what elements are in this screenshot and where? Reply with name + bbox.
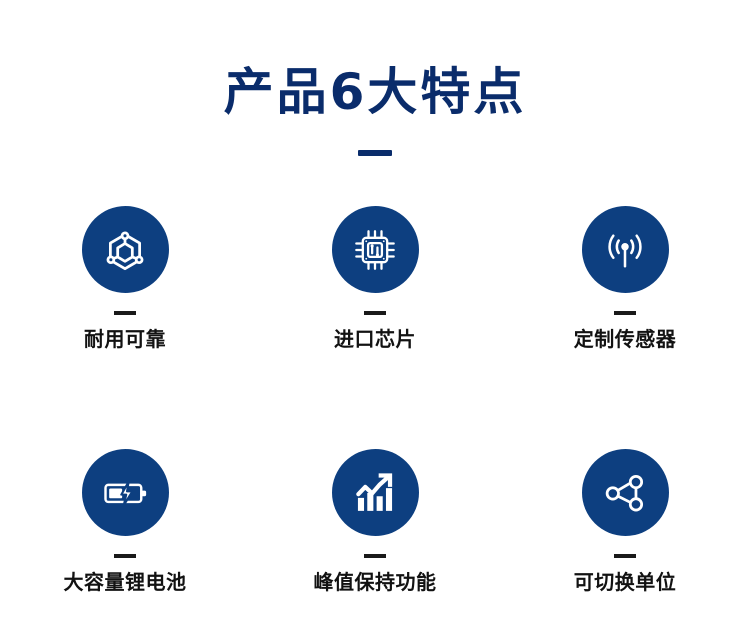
battery-charging-bolt-icon — [99, 467, 151, 519]
feature-highlight-page: 产品6大特点 — [0, 0, 750, 632]
icon-badge — [582, 449, 669, 536]
feature-dash — [114, 554, 136, 558]
feature-dash — [614, 554, 636, 558]
icon-badge — [582, 206, 669, 293]
page-title: 产品6大特点 — [0, 62, 750, 122]
feature-dash — [114, 311, 136, 315]
page-header: 产品6大特点 — [0, 62, 750, 156]
feature-label: 峰值保持功能 — [314, 569, 437, 595]
bar-chart-up-arrow-icon — [349, 467, 401, 519]
icon-badge — [82, 206, 169, 293]
feature-item-durable[interactable]: 耐用可靠 — [0, 206, 250, 352]
icon-badge — [332, 449, 419, 536]
feature-label: 耐用可靠 — [84, 326, 166, 352]
feature-item-peak-hold[interactable]: 峰值保持功能 — [250, 449, 500, 595]
feature-item-custom-sensor[interactable]: 定制传感器 — [500, 206, 750, 352]
icon-badge — [332, 206, 419, 293]
feature-row-1: 耐用可靠 — [0, 206, 750, 352]
share-nodes-triangle-icon — [599, 467, 651, 519]
feature-item-imported-chip[interactable]: 进口芯片 — [250, 206, 500, 352]
feature-label: 进口芯片 — [334, 326, 416, 352]
wireless-signal-antenna-icon — [599, 224, 651, 276]
feature-label: 定制传感器 — [574, 326, 677, 352]
feature-dash — [364, 554, 386, 558]
feature-grid: 耐用可靠 — [0, 206, 750, 595]
feature-dash — [614, 311, 636, 315]
feature-item-switch-units[interactable]: 可切换单位 — [500, 449, 750, 595]
feature-item-large-battery[interactable]: 大容量锂电池 — [0, 449, 250, 595]
title-divider — [358, 150, 392, 156]
feature-row-2: 大容量锂电池 — [0, 449, 750, 595]
feature-dash — [364, 311, 386, 315]
feature-label: 可切换单位 — [574, 569, 677, 595]
cpu-microchip-icon — [349, 224, 401, 276]
molecule-hexagon-node-icon — [99, 224, 151, 276]
icon-badge — [82, 449, 169, 536]
feature-label: 大容量锂电池 — [64, 569, 187, 595]
